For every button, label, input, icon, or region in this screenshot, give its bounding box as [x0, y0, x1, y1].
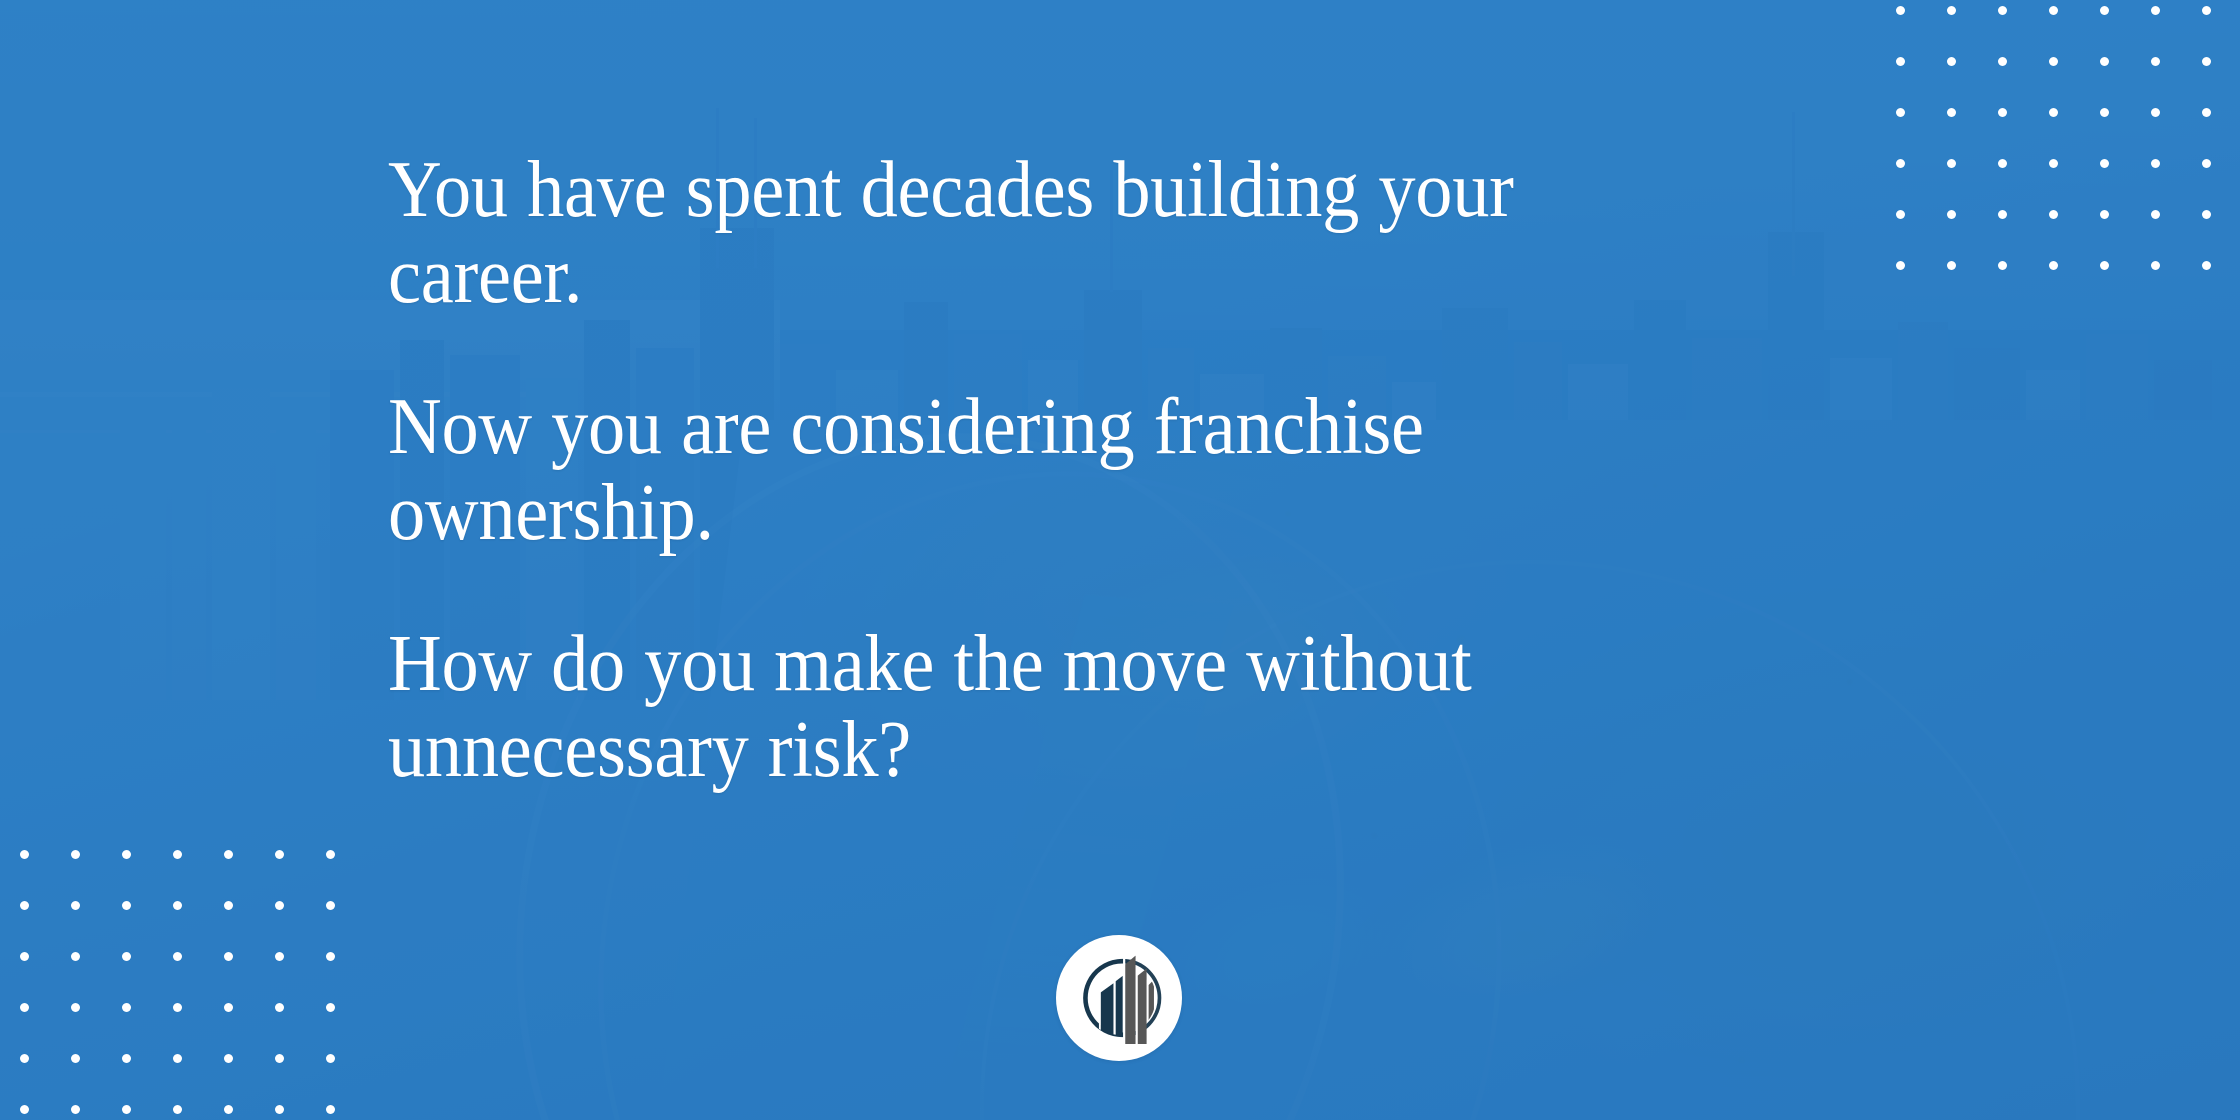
- dot: [1947, 210, 1956, 219]
- dot: [1947, 57, 1956, 66]
- logo-badge: [1056, 935, 1182, 1061]
- dot: [2202, 210, 2211, 219]
- dot: [1947, 108, 1956, 117]
- dot: [1998, 57, 2007, 66]
- dot: [173, 901, 182, 910]
- dot: [2100, 210, 2109, 219]
- dot: [2049, 261, 2058, 270]
- dot: [326, 952, 335, 961]
- dot: [173, 1105, 182, 1114]
- logo: [1056, 935, 1182, 1061]
- dot: [122, 850, 131, 859]
- dot: [326, 1105, 335, 1114]
- dot: [1998, 210, 2007, 219]
- dot: [71, 901, 80, 910]
- dot: [20, 850, 29, 859]
- dot: [2202, 159, 2211, 168]
- building-skyline-icon: [1073, 952, 1165, 1044]
- dot: [2202, 108, 2211, 117]
- dot: [275, 850, 284, 859]
- dot: [1896, 6, 1905, 15]
- dot: [1947, 261, 1956, 270]
- dot: [326, 1054, 335, 1063]
- dot: [275, 1003, 284, 1012]
- dot: [2202, 261, 2211, 270]
- dot: [1896, 210, 1905, 219]
- dot: [2100, 6, 2109, 15]
- dot: [275, 952, 284, 961]
- dot: [122, 1003, 131, 1012]
- dot: [2151, 261, 2160, 270]
- dot: [275, 1054, 284, 1063]
- dot: [20, 1054, 29, 1063]
- dot: [2151, 210, 2160, 219]
- dot: [275, 901, 284, 910]
- dot: [1896, 108, 1905, 117]
- headline-paragraph-1: You have spent decades building your car…: [388, 148, 1709, 319]
- dot: [2049, 6, 2058, 15]
- dot: [20, 1003, 29, 1012]
- dot: [173, 1003, 182, 1012]
- dot: [2100, 108, 2109, 117]
- dot: [2049, 57, 2058, 66]
- dot: [122, 1054, 131, 1063]
- dot: [1896, 159, 1905, 168]
- dot: [173, 1054, 182, 1063]
- dot-grid-bottom-left: [20, 850, 340, 1112]
- dot: [2049, 108, 2058, 117]
- dot: [224, 1003, 233, 1012]
- dot: [2151, 159, 2160, 168]
- dot: [224, 1054, 233, 1063]
- dot: [1947, 159, 1956, 168]
- dot: [122, 901, 131, 910]
- headline-paragraph-2: Now you are considering franchise owners…: [388, 385, 1709, 556]
- dot: [71, 1105, 80, 1114]
- dot: [122, 952, 131, 961]
- dot: [71, 850, 80, 859]
- dot-grid-top-right: [1896, 6, 2216, 216]
- dot: [1998, 159, 2007, 168]
- dot: [224, 952, 233, 961]
- dot: [2049, 210, 2058, 219]
- dot: [1896, 261, 1905, 270]
- dot: [20, 901, 29, 910]
- dot: [1896, 57, 1905, 66]
- dot: [2100, 57, 2109, 66]
- dot: [2202, 57, 2211, 66]
- dot: [224, 901, 233, 910]
- dot: [1998, 6, 2007, 15]
- dot: [326, 901, 335, 910]
- dot: [2049, 159, 2058, 168]
- dot: [71, 952, 80, 961]
- dot: [2151, 6, 2160, 15]
- dot: [1947, 6, 1956, 15]
- dot: [122, 1105, 131, 1114]
- dot: [326, 850, 335, 859]
- dot: [224, 1105, 233, 1114]
- dot: [2202, 6, 2211, 15]
- dot: [224, 850, 233, 859]
- dot: [1998, 261, 2007, 270]
- dot: [71, 1054, 80, 1063]
- promo-slide: You have spent decades building your car…: [0, 0, 2240, 1120]
- dot: [173, 850, 182, 859]
- dot: [1998, 108, 2007, 117]
- dot: [71, 1003, 80, 1012]
- dot: [20, 952, 29, 961]
- dot: [2151, 57, 2160, 66]
- headline-paragraph-3: How do you make the move without unneces…: [388, 622, 1709, 793]
- dot: [326, 1003, 335, 1012]
- dot: [2100, 159, 2109, 168]
- dot: [20, 1105, 29, 1114]
- dot: [275, 1105, 284, 1114]
- dot: [173, 952, 182, 961]
- dot: [2100, 261, 2109, 270]
- dot: [2151, 108, 2160, 117]
- headline-block: You have spent decades building your car…: [388, 148, 1808, 794]
